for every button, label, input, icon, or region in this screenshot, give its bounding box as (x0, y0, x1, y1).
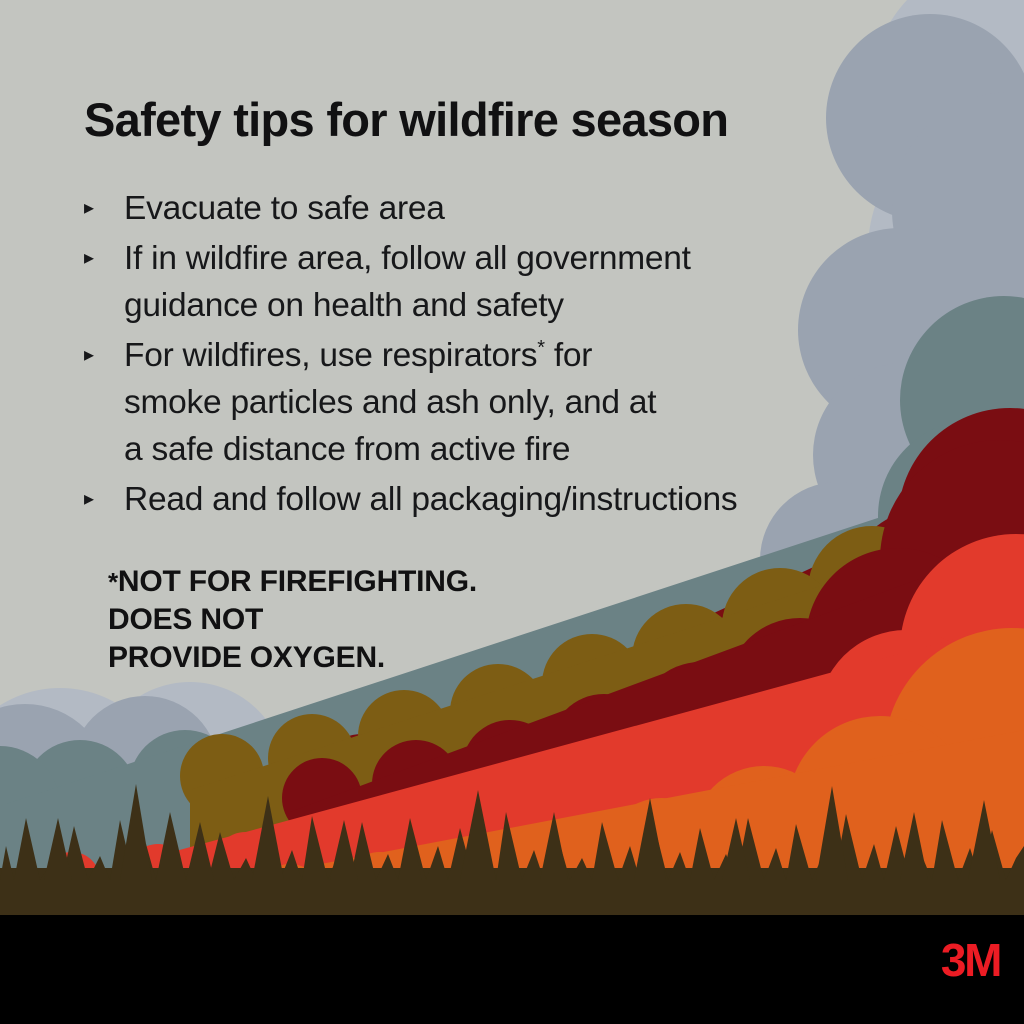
list-item-respirators: ▸ For wildfires, use respirators* for sm… (80, 332, 940, 473)
disclaimer-line-1: *NOT FOR FIREFIGHTING. (108, 563, 808, 601)
list-item-government-guidance: ▸ If in wildfire area, follow all govern… (80, 235, 940, 329)
bullet-triangle-icon: ▸ (84, 476, 94, 523)
wildfire-safety-poster: Safety tips for wildfire season ▸ Evacua… (0, 0, 1024, 1024)
footer-bar: 3M (0, 915, 1024, 1024)
bullet-triangle-icon: ▸ (84, 185, 94, 232)
page-title: Safety tips for wildfire season (84, 96, 964, 145)
list-item-evacuate: ▸ Evacuate to safe area (80, 185, 940, 232)
list-item-line: For wildfires, use respirators* for (124, 332, 940, 379)
list-item-line: guidance on health and safety (124, 282, 940, 329)
disclaimer-line-1-text: NOT FOR FIREFIGHTING. (118, 565, 477, 598)
respirators-text-after-star: for (545, 337, 592, 374)
list-item-line: Evacuate to safe area (124, 185, 940, 232)
list-item-line: smoke particles and ash only, and at (124, 379, 940, 426)
list-item-line: If in wildfire area, follow all governme… (124, 235, 940, 282)
safety-tips-list: ▸ Evacuate to safe area ▸ If in wildfire… (80, 185, 940, 526)
list-item-line: Read and follow all packaging/instructio… (124, 476, 940, 523)
list-item-line: a safe distance from active fire (124, 426, 940, 473)
respirators-text-before-star: For wildfires, use respirators (124, 337, 537, 374)
footnote-disclaimer: *NOT FOR FIREFIGHTING. DOES NOT PROVIDE … (108, 563, 808, 677)
3m-logo: 3M (941, 937, 1000, 983)
disclaimer-line-3: PROVIDE OXYGEN. (108, 639, 808, 677)
disclaimer-star-icon: * (108, 567, 118, 597)
disclaimer-line-2: DOES NOT (108, 601, 808, 639)
footnote-star-marker: * (537, 337, 545, 359)
bullet-triangle-icon: ▸ (84, 235, 94, 282)
list-item-packaging-instructions: ▸ Read and follow all packaging/instruct… (80, 476, 940, 523)
bullet-triangle-icon: ▸ (84, 332, 94, 379)
